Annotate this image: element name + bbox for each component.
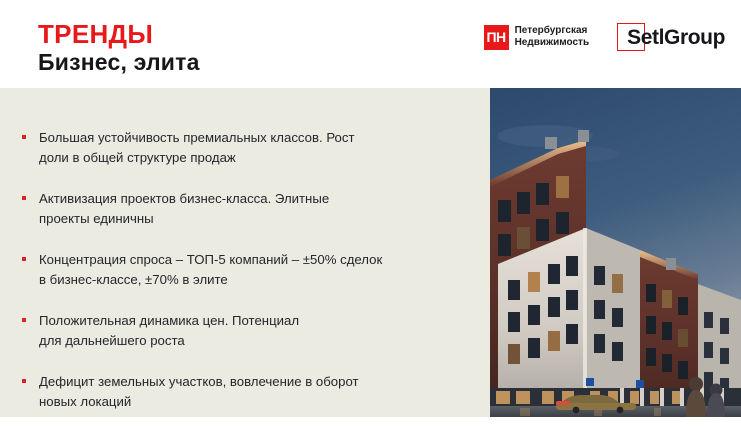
bullet-marker-icon bbox=[22, 196, 26, 200]
title-block: ТРЕНДЫ Бизнес, элита bbox=[38, 20, 200, 76]
pn-logo-label: Петербургская Недвижимость bbox=[515, 25, 590, 50]
building-photo bbox=[490, 88, 741, 417]
logo-setl-group: SetlGroup bbox=[617, 20, 725, 54]
page-subtitle: Бизнес, элита bbox=[38, 50, 200, 76]
setl-logo-label: SetlGroup bbox=[623, 27, 725, 48]
list-item: Дефицит земельных участков, вовлечение в… bbox=[18, 372, 470, 411]
list-item-text: Положительная динамика цен. Потенциал дл… bbox=[39, 311, 299, 350]
bullet-marker-icon bbox=[22, 135, 26, 139]
list-item: Концентрация спроса – ТОП-5 компаний – ±… bbox=[18, 250, 470, 289]
list-item: Активизация проектов бизнес-класса. Элит… bbox=[18, 189, 470, 228]
list-item: Положительная динамика цен. Потенциал дл… bbox=[18, 311, 470, 350]
logo-petersburg-realty: ПН Петербургская Недвижимость bbox=[484, 25, 590, 50]
building-photo-illustration bbox=[490, 88, 741, 417]
page-title: ТРЕНДЫ bbox=[38, 20, 200, 48]
slide-header: ТРЕНДЫ Бизнес, элита ПН Петербургская Не… bbox=[0, 0, 741, 88]
list-item-text: Дефицит земельных участков, вовлечение в… bbox=[39, 372, 359, 411]
bullet-marker-icon bbox=[22, 379, 26, 383]
slide: ТРЕНДЫ Бизнес, элита ПН Петербургская Не… bbox=[0, 0, 741, 417]
list-item-text: Большая устойчивость премиальных классов… bbox=[39, 128, 355, 167]
logo-group: ПН Петербургская Недвижимость SetlGroup bbox=[484, 20, 725, 54]
pn-monogram-icon: ПН bbox=[484, 25, 509, 50]
bullet-marker-icon bbox=[22, 318, 26, 322]
list-item: Большая устойчивость премиальных классов… bbox=[18, 128, 470, 167]
bullet-marker-icon bbox=[22, 257, 26, 261]
list-item-text: Активизация проектов бизнес-класса. Элит… bbox=[39, 189, 329, 228]
list-item-text: Концентрация спроса – ТОП-5 компаний – ±… bbox=[39, 250, 382, 289]
trend-bullet-list: Большая устойчивость премиальных классов… bbox=[18, 128, 470, 433]
